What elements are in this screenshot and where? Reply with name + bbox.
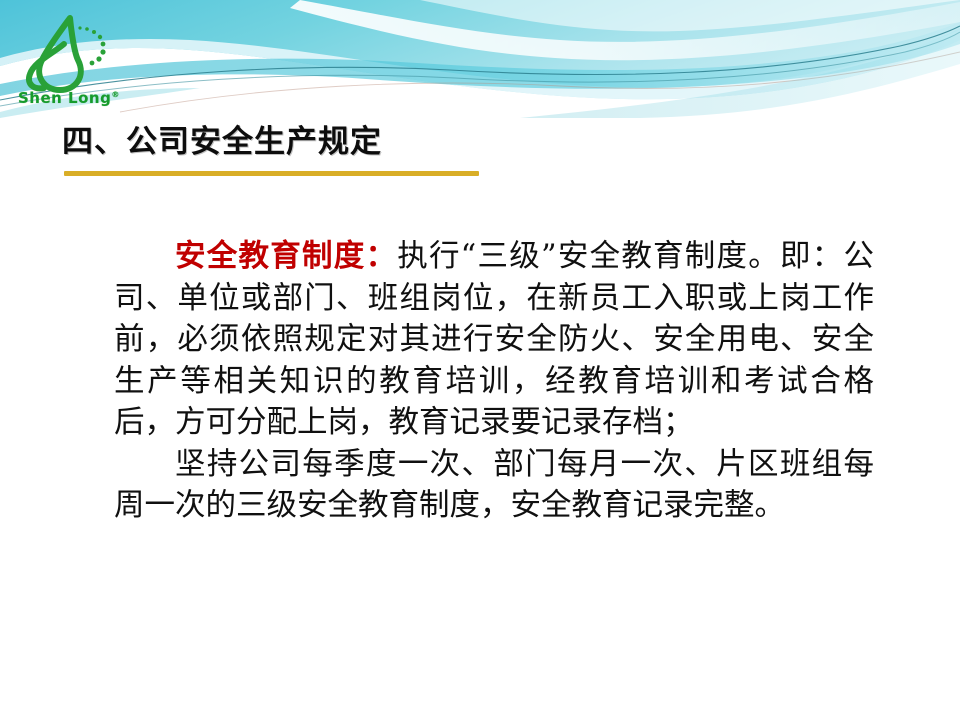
paragraph-2: 坚持公司每季度一次、部门每月一次、片区班组每周一次的三级安全教育制度，安全教育记…	[114, 444, 874, 527]
company-logo: Shen Long®	[18, 14, 123, 108]
logo-wordmark: Shen Long®	[18, 89, 120, 107]
header-wave-decoration	[0, 0, 960, 118]
logo-wordmark-text: Shen Long	[18, 89, 111, 107]
paragraph-1-label: 安全教育制度：	[175, 238, 397, 274]
paragraph-2-text: 坚持公司每季度一次、部门每月一次、片区班组每周一次的三级安全教育制度，安全教育记…	[114, 447, 874, 524]
page-title: 四、公司安全生产规定	[62, 122, 662, 162]
water-drop-icon	[18, 14, 123, 94]
title-underline-rule	[64, 171, 479, 176]
registered-trademark-symbol: ®	[111, 90, 120, 99]
presentation-slide: Shen Long® 四、公司安全生产规定 安全教育制度：执行“三级”安全教育制…	[0, 0, 960, 720]
slide-body: 安全教育制度：执行“三级”安全教育制度。即：公司、单位或部门、班组岗位，在新员工…	[114, 236, 874, 527]
paragraph-1: 安全教育制度：执行“三级”安全教育制度。即：公司、单位或部门、班组岗位，在新员工…	[114, 236, 874, 444]
title-block: 四、公司安全生产规定	[62, 122, 662, 176]
stars-arc-icon	[78, 26, 105, 65]
